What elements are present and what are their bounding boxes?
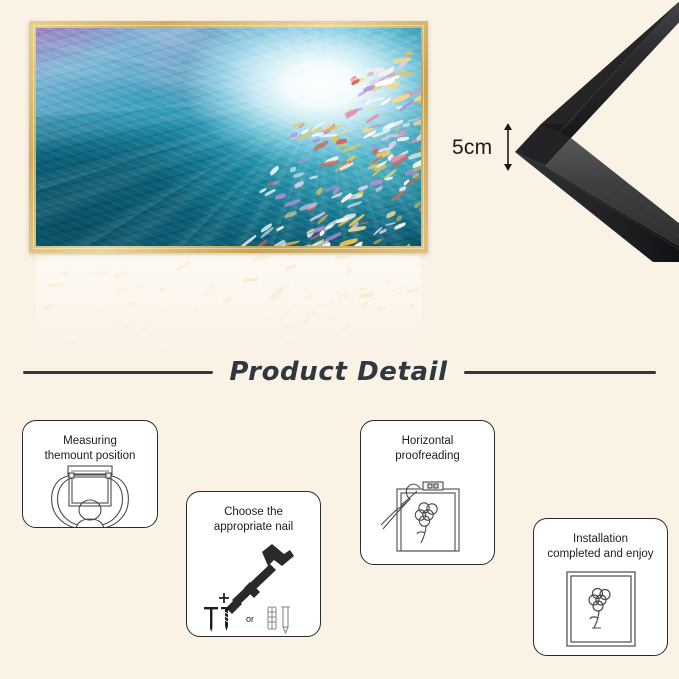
step-card-installation-complete[interactable]: Installation completed and enjoy <box>533 518 668 656</box>
step-card-measuring[interactable]: Measuring themount position <box>22 420 158 528</box>
person-holding-frame-icon <box>38 464 142 528</box>
nail-or-label: or <box>246 614 254 624</box>
step-card-title: Choose the appropriate nail <box>207 505 300 535</box>
painting-canvas <box>36 28 421 246</box>
step-card-title: Measuring themount position <box>38 434 143 464</box>
step-card-choose-nail[interactable]: Choose the appropriate nail <box>186 491 321 637</box>
framed-artwork <box>29 21 428 253</box>
step-card-title: Installation completed and enjoy <box>540 532 660 562</box>
dimension-label: 5cm <box>452 137 492 158</box>
step-card-illustration <box>534 562 667 655</box>
black-frame-corner-sample <box>505 0 679 262</box>
framed-flower-picture-icon <box>559 566 643 652</box>
title-rule-left <box>23 371 213 374</box>
hand-leveling-frame-icon <box>373 471 483 557</box>
step-card-illustration <box>23 464 157 528</box>
step-card-title: Horizontal proofreading <box>388 434 467 464</box>
hammer-and-nails-icon: or <box>198 536 310 636</box>
step-card-illustration <box>361 464 494 564</box>
title-rule-right <box>464 371 656 374</box>
section-title-block: Product Detail <box>0 350 679 394</box>
page-title: Product Detail <box>229 357 447 387</box>
step-card-horizontal-proofreading[interactable]: Horizontal proofreading <box>360 420 495 565</box>
step-card-illustration: or <box>187 535 320 636</box>
hero-section: 5cm <box>0 0 679 400</box>
product-detail-page: 5cm <box>0 0 679 679</box>
